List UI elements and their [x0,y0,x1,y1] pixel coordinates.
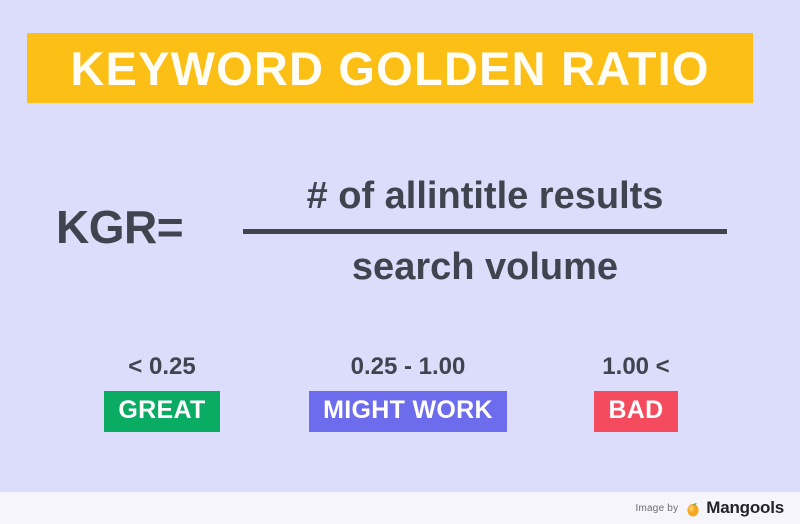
legend-item-bad: 1.00 < BAD [546,352,726,432]
formula-left-label: KGR= [56,200,183,254]
kgr-formula: KGR= # of allintitle results search volu… [0,168,800,308]
kgr-legend: < 0.25 GREAT 0.25 - 1.00 MIGHT WORK 1.00… [0,352,800,442]
footer-credit-label: Image by [636,503,679,514]
page-title: KEYWORD GOLDEN RATIO [70,45,709,92]
status-badge-great: GREAT [104,391,219,432]
legend-range-great: < 0.25 [62,352,262,382]
title-banner: KEYWORD GOLDEN RATIO [27,33,753,103]
footer-brand-name: Mangools [706,498,784,518]
legend-range-might-work: 0.25 - 1.00 [288,352,528,382]
infographic-canvas: KEYWORD GOLDEN RATIO KGR= # of allintitl… [0,0,800,524]
formula-denominator: search volume [243,239,727,295]
footer-credit-bar: Image by Mangools [0,492,800,524]
status-badge-might-work: MIGHT WORK [309,391,507,432]
legend-item-great: < 0.25 GREAT [62,352,262,432]
formula-numerator: # of allintitle results [243,168,727,224]
formula-fraction: # of allintitle results search volume [243,168,727,295]
legend-item-might-work: 0.25 - 1.00 MIGHT WORK [288,352,528,432]
status-badge-bad: BAD [594,391,677,432]
fraction-bar [243,229,727,234]
legend-range-bad: 1.00 < [546,352,726,382]
mango-logo-icon [686,502,700,517]
